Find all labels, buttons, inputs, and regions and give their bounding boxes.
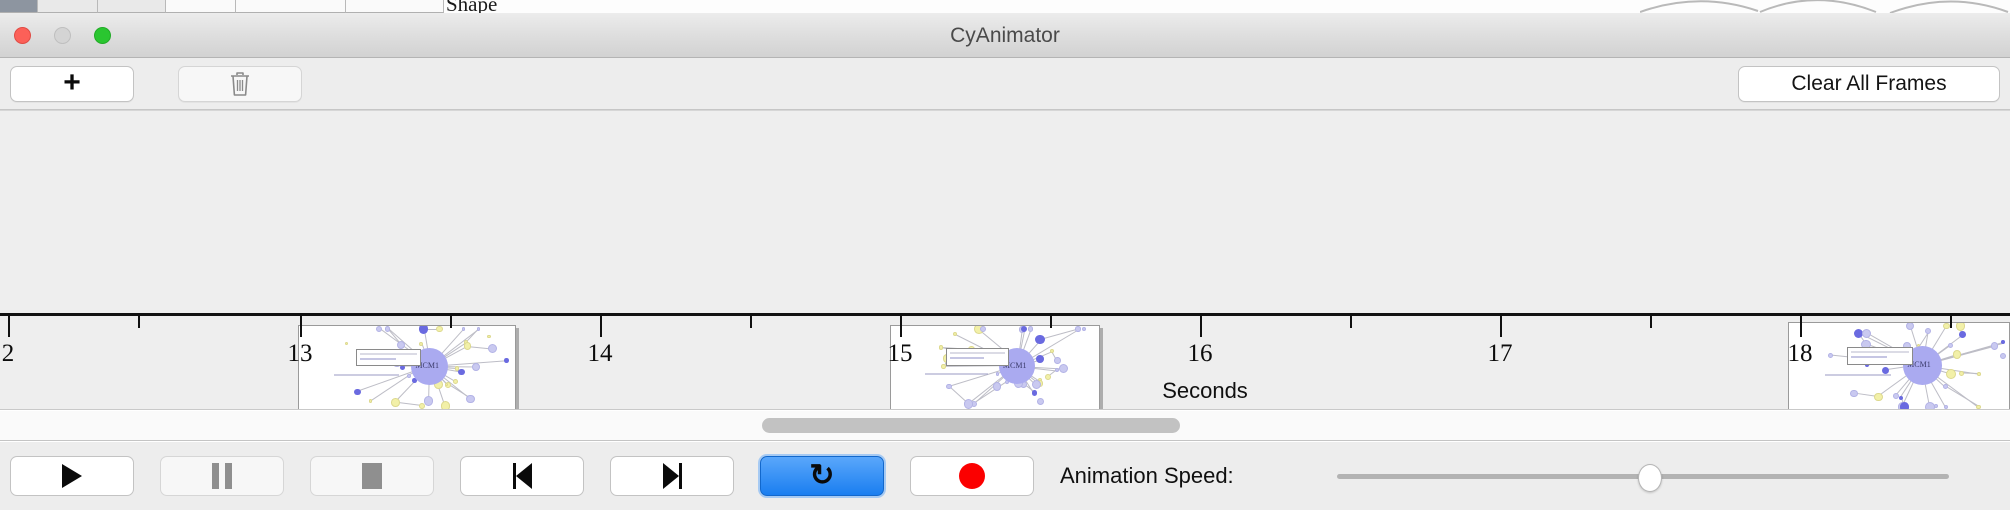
timeline-tick-label: 18 [1788, 340, 1813, 368]
network-node [453, 379, 459, 385]
record-icon [959, 463, 985, 489]
frame-thumbnail[interactable]: MCM1 [890, 325, 1100, 410]
pause-button[interactable] [160, 456, 284, 496]
annotation-caption [1825, 374, 1892, 376]
timeline-tick-minor [1350, 316, 1352, 328]
network-node [477, 327, 480, 330]
callout-text-line [950, 357, 985, 359]
prev-frame-button[interactable] [460, 456, 584, 496]
background-tab [0, 0, 38, 13]
timeline-top-divider [0, 110, 2010, 111]
network-node [436, 326, 443, 333]
background-strip: Shape [0, 0, 2010, 13]
timeline-tick-minor [450, 316, 452, 328]
clear-all-frames-button[interactable]: Clear All Frames [1738, 66, 2000, 102]
loop-icon: ↻ [809, 461, 834, 491]
network-node [1035, 335, 1045, 345]
playback-controls: ↻ Animation Speed: [0, 442, 2010, 510]
network-node [1050, 349, 1054, 353]
skip-forward-icon [663, 463, 682, 489]
network-node [1925, 328, 1931, 334]
network-node [1953, 350, 1961, 358]
timeline-tick-label: 15 [888, 340, 913, 368]
network-node [466, 395, 475, 404]
network-node [1959, 371, 1964, 376]
network-node [1943, 323, 1950, 330]
timeline-tick-minor [1050, 316, 1052, 328]
network-node [1059, 364, 1068, 373]
network-node [946, 384, 952, 390]
skip-back-icon [513, 463, 532, 489]
network-node [354, 389, 360, 395]
network-node [458, 369, 465, 376]
network-node [1906, 322, 1914, 330]
network-node [391, 398, 400, 407]
network-node [1075, 326, 1080, 331]
network-node [1899, 396, 1903, 400]
background-tab [38, 0, 98, 13]
callout-text-line [360, 353, 417, 355]
network-node [1948, 343, 1953, 348]
play-button[interactable] [10, 456, 134, 496]
network-node [419, 403, 425, 409]
network-node [1082, 327, 1086, 331]
network-node [462, 327, 466, 331]
stop-button[interactable] [310, 456, 434, 496]
network-node [1828, 353, 1833, 358]
pause-icon [212, 463, 232, 489]
network-node [2000, 353, 2006, 359]
toolbar: + Clear All Frames [0, 58, 2010, 110]
next-frame-button[interactable] [610, 456, 734, 496]
network-node [993, 382, 1002, 391]
annotation-callout [356, 349, 421, 367]
timeline-tick-label: 2 [2, 340, 15, 368]
network-node [1977, 372, 1981, 376]
window-title: CyAnimator [0, 13, 2010, 58]
background-network-curves [1640, 0, 2010, 13]
network-node [1037, 398, 1044, 405]
delete-frame-button[interactable] [178, 66, 302, 102]
network-edge [1040, 329, 1078, 340]
network-node [2001, 340, 2005, 344]
title-bar[interactable]: CyAnimator [0, 13, 2010, 58]
timeline-panel[interactable]: MCM1MCM1MCM1 2131415161718 Seconds [0, 110, 2010, 410]
annotation-caption [925, 373, 988, 375]
timeline-tick-major [1200, 316, 1202, 337]
network-node [504, 358, 509, 363]
loop-button[interactable]: ↻ [760, 456, 884, 496]
network-node [1946, 369, 1956, 379]
network-node [1893, 393, 1899, 399]
timeline-tick-major [1800, 316, 1802, 337]
annotation-callout [1847, 347, 1914, 365]
callout-text-line [950, 352, 1005, 354]
network-node [1032, 390, 1038, 396]
network-node [472, 363, 480, 371]
timeline-tick-major [600, 316, 602, 337]
callout-text-line [1851, 351, 1910, 353]
stop-icon [362, 463, 382, 489]
network-node [1976, 405, 1981, 410]
network-node [1900, 402, 1909, 410]
network-node [1028, 326, 1033, 331]
record-button[interactable] [910, 456, 1034, 496]
add-frame-button[interactable]: + [10, 66, 134, 102]
timeline-tick-major [8, 316, 10, 337]
network-node [1045, 374, 1051, 380]
frame-thumbnail[interactable]: MCM1 [298, 325, 516, 410]
annotation-caption [334, 374, 399, 376]
timeline-scrollbar[interactable] [0, 411, 2010, 441]
animation-speed-label: Animation Speed: [1060, 456, 1234, 496]
network-node [1944, 405, 1948, 409]
timeline-tick-major [300, 316, 302, 337]
network-node [441, 401, 450, 410]
scrollbar-thumb[interactable] [762, 418, 1180, 433]
network-node [1956, 322, 1965, 331]
network-node [980, 326, 986, 332]
background-tab [98, 0, 166, 13]
network-node [1874, 393, 1883, 402]
timeline-tick-minor [1950, 316, 1952, 328]
network-node [1934, 404, 1938, 408]
frame-thumbnail[interactable]: MCM1 [1788, 322, 2010, 410]
timeline-tick-label: 13 [288, 340, 313, 368]
network-edge [1945, 386, 1979, 407]
timeline-tick-minor [138, 316, 140, 328]
play-icon [62, 464, 82, 488]
timeline-tick-major [1500, 316, 1502, 337]
network-node [385, 326, 390, 331]
callout-text-line [360, 358, 396, 360]
timeline-tick-label: 17 [1488, 340, 1513, 368]
network-node [1021, 326, 1027, 332]
network-node [996, 372, 999, 375]
network-node [487, 335, 491, 339]
network-node [1991, 342, 1999, 350]
timeline-tick-major [900, 316, 902, 337]
annotation-callout [946, 348, 1009, 365]
background-tab [166, 0, 236, 13]
timeline-tick-minor [1650, 316, 1652, 328]
network-node [488, 344, 497, 353]
plus-icon: + [63, 68, 81, 98]
network-node [419, 325, 428, 334]
timeline-tick-minor [750, 316, 752, 328]
callout-text-line [1851, 356, 1888, 358]
network-node [407, 374, 411, 378]
network-node [1959, 331, 1966, 338]
network-node [964, 399, 974, 409]
axis-title: Seconds [1162, 378, 1248, 404]
background-label: Shape [446, 0, 497, 13]
timeline-tick-label: 14 [588, 340, 613, 368]
network-node [424, 396, 433, 405]
network-node [1943, 384, 1948, 389]
network-node [419, 342, 423, 346]
network-node [376, 326, 382, 332]
clear-all-frames-label: Clear All Frames [1791, 72, 1946, 96]
animation-speed-slider-thumb[interactable] [1638, 464, 1662, 492]
trash-icon [229, 71, 251, 97]
network-node [1850, 390, 1858, 398]
network-node [345, 342, 348, 345]
network-node [464, 342, 472, 350]
network-node [1032, 380, 1041, 389]
network-node [1054, 357, 1061, 364]
network-node [939, 345, 943, 349]
network-node [1036, 355, 1044, 363]
network-node [397, 341, 405, 349]
background-tab [236, 0, 346, 13]
background-tab [346, 0, 444, 13]
cyanimator-window: Shape CyAnimator + Clear All Frames [0, 0, 2010, 510]
network-node [369, 399, 372, 402]
timeline-tick-label: 16 [1188, 340, 1213, 368]
